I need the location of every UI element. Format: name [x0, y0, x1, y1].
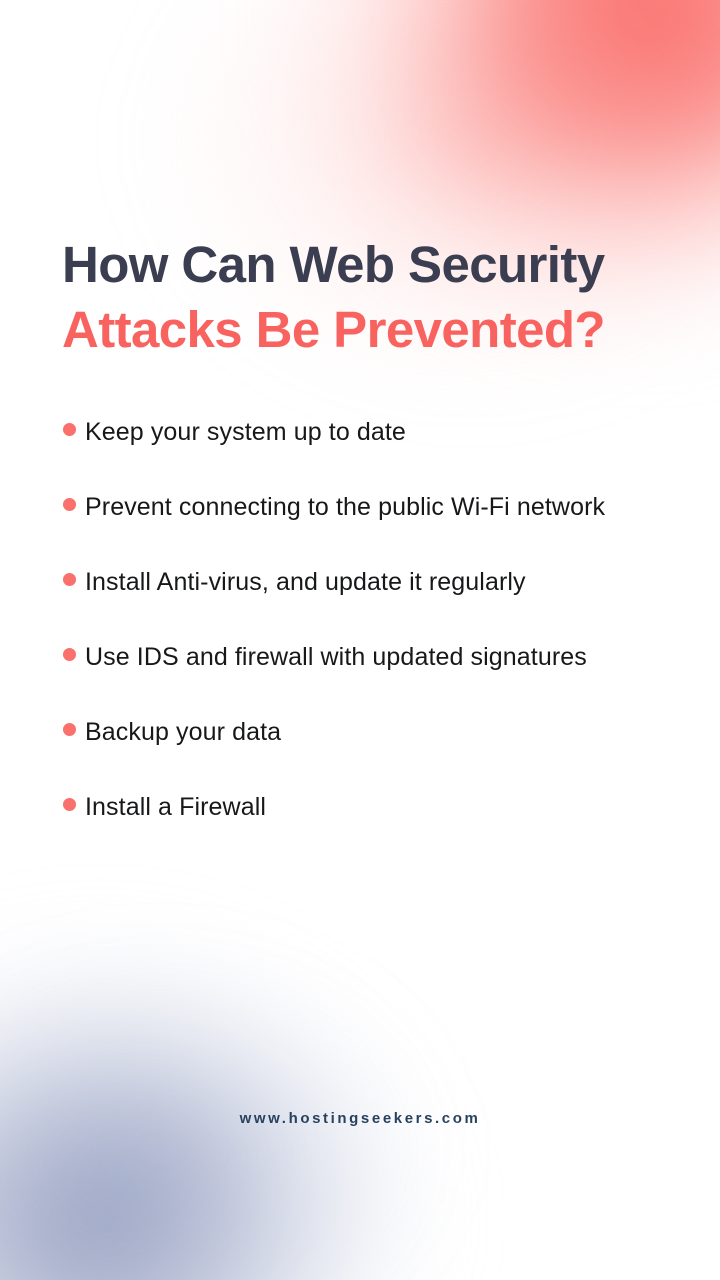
page-title-line-1: How Can Web Security [62, 232, 674, 297]
list-item-label: Install a Firewall [85, 788, 625, 826]
bullet-dot-icon [63, 798, 76, 811]
list-item-label: Backup your data [85, 713, 625, 751]
poster-canvas: How Can Web Security Attacks Be Prevente… [0, 0, 720, 1280]
list-item-label: Install Anti-virus, and update it regula… [85, 563, 625, 601]
list-item: Prevent connecting to the public Wi-Fi n… [62, 488, 625, 526]
list-item: Keep your system up to date [62, 413, 625, 451]
bullet-dot-icon [63, 573, 76, 586]
prevention-tips-list: Keep your system up to date Prevent conn… [62, 363, 674, 826]
list-item-label: Keep your system up to date [85, 413, 625, 451]
page-title: How Can Web Security Attacks Be Prevente… [62, 0, 674, 363]
list-item: Backup your data [62, 713, 625, 751]
footer: www.hostingseekers.com [0, 1096, 720, 1280]
page-title-line-2: Attacks Be Prevented? [62, 297, 674, 362]
list-item: Install a Firewall [62, 788, 625, 826]
bullet-dot-icon [63, 648, 76, 661]
list-item-label: Use IDS and firewall with updated signat… [85, 638, 625, 676]
bullet-dot-icon [63, 723, 76, 736]
bullet-dot-icon [63, 423, 76, 436]
list-item-label: Prevent connecting to the public Wi-Fi n… [85, 488, 625, 526]
list-item: Use IDS and firewall with updated signat… [62, 638, 625, 676]
poster-content: How Can Web Security Attacks Be Prevente… [0, 0, 720, 826]
bullet-dot-icon [63, 498, 76, 511]
website-url[interactable]: www.hostingseekers.com [240, 1110, 481, 1127]
list-item: Install Anti-virus, and update it regula… [62, 563, 625, 601]
